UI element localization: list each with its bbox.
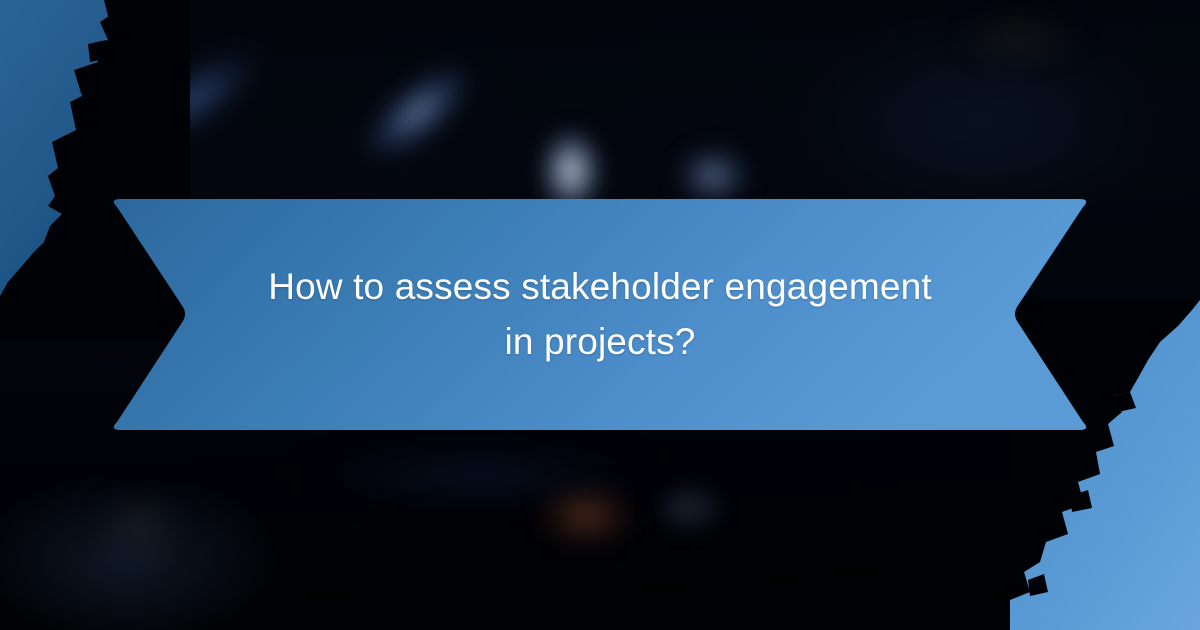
ribbon-banner: How to assess stakeholder engagement in … xyxy=(105,197,1095,432)
share-card: How to assess stakeholder engagement in … xyxy=(0,0,1200,630)
banner-heading: How to assess stakeholder engagement in … xyxy=(255,197,945,432)
